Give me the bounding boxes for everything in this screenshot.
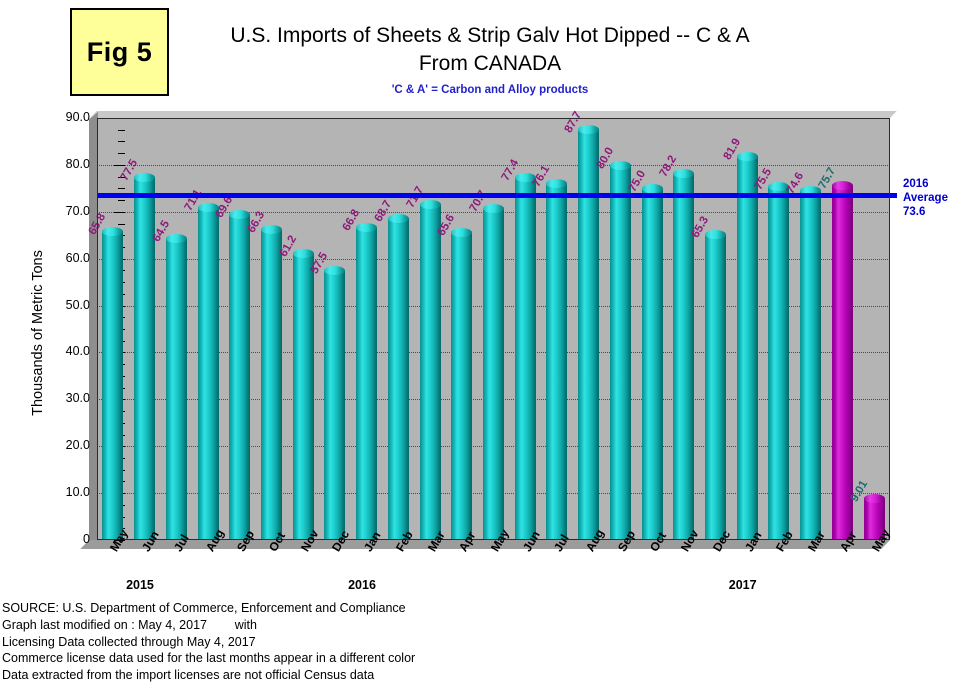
bar-cap — [293, 249, 314, 258]
bar — [356, 223, 377, 540]
bar — [261, 225, 282, 540]
y-tick-mark — [114, 165, 125, 166]
y-tick-label: 0 — [44, 532, 90, 546]
bar-body — [261, 230, 282, 540]
bar-body — [705, 235, 726, 540]
y-tick-label: 50.0 — [44, 298, 90, 312]
y-tick-minor — [118, 224, 125, 225]
bar-cap — [705, 230, 726, 239]
bar — [198, 203, 219, 540]
bar-cap — [737, 152, 758, 161]
y-tick-label: 60.0 — [44, 251, 90, 265]
y-tick-label: 40.0 — [44, 344, 90, 358]
average-legend-value: 73.6 — [903, 205, 948, 219]
bar — [483, 204, 504, 540]
y-tick-minor — [118, 200, 125, 201]
y-tick-label: 90.0 — [44, 110, 90, 124]
x-axis-year-label: 2017 — [729, 578, 757, 592]
bar-chart: 010.020.030.040.050.060.070.080.090.0 65… — [0, 0, 957, 685]
bar — [642, 184, 663, 540]
gridline — [97, 118, 890, 119]
bar — [705, 230, 726, 540]
bar-cap — [356, 223, 377, 232]
bar-body — [578, 130, 599, 540]
footer-line: Graph last modified on : May 4, 2017 wit… — [2, 617, 415, 634]
bar-cap — [864, 494, 885, 503]
bar-body — [420, 205, 441, 540]
x-axis-year-label: 2016 — [348, 578, 376, 592]
gridline — [97, 165, 890, 166]
footer-line: Licensing Data collected through May 4, … — [2, 634, 415, 651]
x-axis-year-label: 2015 — [126, 578, 154, 592]
y-tick-label: 10.0 — [44, 485, 90, 499]
average-reference-line — [97, 193, 897, 198]
bar — [166, 234, 187, 540]
bar — [102, 227, 123, 540]
bar-body — [737, 157, 758, 540]
bar — [673, 169, 694, 540]
average-legend-label: Average — [903, 191, 948, 205]
bar-body — [610, 166, 631, 540]
bar-cap — [832, 181, 853, 190]
bar-body — [293, 254, 314, 540]
bar-body — [388, 219, 409, 540]
y-tick-label: 30.0 — [44, 391, 90, 405]
bar-body — [229, 215, 250, 540]
y-tick-mark — [114, 118, 125, 119]
plot-floor — [80, 540, 890, 549]
bar-cap — [166, 234, 187, 243]
bar-body — [642, 189, 663, 540]
bar — [546, 179, 567, 540]
bar-body — [515, 178, 536, 540]
average-legend: 2016 Average 73.6 — [903, 177, 948, 219]
bar-body — [166, 239, 187, 540]
bar-cap — [229, 210, 250, 219]
bar-body — [356, 228, 377, 540]
bar-body — [483, 209, 504, 540]
bar — [293, 249, 314, 540]
footer-line: SOURCE: U.S. Department of Commerce, Enf… — [2, 600, 415, 617]
bar-cap — [134, 173, 155, 182]
bar — [578, 125, 599, 540]
bar-body — [134, 178, 155, 540]
bar — [229, 210, 250, 540]
bar — [515, 173, 536, 540]
bar — [737, 152, 758, 540]
average-legend-year: 2016 — [903, 177, 948, 191]
bar — [610, 161, 631, 540]
bar — [420, 200, 441, 540]
y-tick-minor — [118, 130, 125, 131]
y-tick-minor — [118, 141, 125, 142]
bar — [800, 186, 821, 540]
bar — [768, 182, 789, 540]
bar-body — [102, 232, 123, 540]
bar-body — [800, 191, 821, 540]
bar-body — [451, 233, 472, 540]
y-tick-mark — [114, 212, 125, 213]
bar-cap — [420, 200, 441, 209]
bar — [134, 173, 155, 540]
y-tick-minor — [118, 188, 125, 189]
bar-body — [546, 184, 567, 540]
footer-line: Data extracted from the import licenses … — [2, 667, 415, 684]
footer-line: Commerce license data used for the last … — [2, 650, 415, 667]
bar-body — [768, 187, 789, 540]
bar-cap — [388, 214, 409, 223]
bar-body — [324, 271, 345, 540]
bar-body — [198, 208, 219, 540]
y-axis: 010.020.030.040.050.060.070.080.090.0 — [34, 0, 90, 685]
y-tick-label: 20.0 — [44, 438, 90, 452]
bar — [451, 228, 472, 540]
bar-body — [832, 186, 853, 540]
bar-cap — [610, 161, 631, 170]
footer-notes: SOURCE: U.S. Department of Commerce, Enf… — [2, 600, 415, 684]
bar — [832, 181, 853, 540]
y-tick-minor — [118, 153, 125, 154]
bar — [324, 266, 345, 540]
y-tick-label: 80.0 — [44, 157, 90, 171]
y-tick-label: 70.0 — [44, 204, 90, 218]
bar — [388, 214, 409, 540]
bar-cap — [578, 125, 599, 134]
